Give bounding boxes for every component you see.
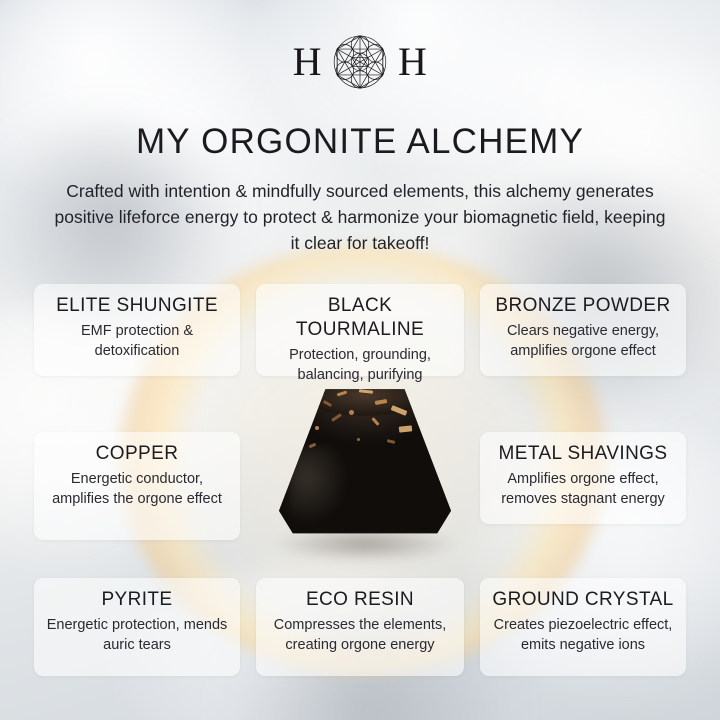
page-subtitle: Crafted with intention & mindfully sourc…	[52, 178, 668, 256]
copper-fleck	[357, 438, 360, 441]
ingredient-desc: Clears negative energy, amplifies orgone…	[488, 321, 678, 361]
ingredient-desc: Energetic conductor, amplifies the orgon…	[42, 469, 232, 509]
ingredient-card-ground-crystal: GROUND CRYSTAL Creates piezoelectric eff…	[480, 578, 686, 676]
logo-letter-right: H	[398, 42, 427, 82]
ingredient-name: ELITE SHUNGITE	[42, 294, 232, 318]
ingredient-card-metal-shavings: METAL SHAVINGS Amplifies orgone effect, …	[480, 432, 686, 524]
copper-fleck	[315, 426, 319, 430]
logo-letter-left: H	[293, 42, 322, 82]
ingredient-desc: Creates piezoelectric effect, emits nega…	[488, 615, 678, 655]
ingredient-name: BRONZE POWDER	[488, 294, 678, 318]
ingredient-desc: Compresses the elements, creating orgone…	[264, 615, 456, 655]
ingredient-name: GROUND CRYSTAL	[488, 588, 678, 612]
ingredient-card-tourmaline: BLACK TOURMALINE Protection, grounding, …	[256, 284, 464, 376]
ingredient-name: BLACK TOURMALINE	[264, 294, 456, 342]
metatron-cube-icon	[322, 24, 398, 100]
ingredient-desc: EMF protection & detoxification	[42, 321, 232, 361]
page-title: MY ORGONITE ALCHEMY	[0, 122, 720, 162]
ingredient-card-pyrite: PYRITE Energetic protection, mends auric…	[34, 578, 240, 676]
ingredient-name: ECO RESIN	[264, 588, 456, 612]
poster: H H	[0, 0, 720, 720]
ingredient-name: COPPER	[42, 442, 232, 466]
ingredient-desc: Amplifies orgone effect, removes stagnan…	[488, 469, 678, 509]
ingredient-card-eco-resin: ECO RESIN Compresses the elements, creat…	[256, 578, 464, 676]
ingredient-name: METAL SHAVINGS	[488, 442, 678, 466]
product-puck	[279, 386, 451, 546]
ingredient-desc: Energetic protection, mends auric tears	[42, 615, 232, 655]
puck-highlight	[289, 446, 349, 526]
orgonite-product-image	[279, 386, 451, 561]
brand-logo: H H	[0, 26, 720, 98]
copper-fleck	[349, 410, 354, 415]
ingredient-card-copper: COPPER Energetic conductor, amplifies th…	[34, 432, 240, 540]
ingredient-name: PYRITE	[42, 588, 232, 612]
ingredient-card-bronze: BRONZE POWDER Clears negative energy, am…	[480, 284, 686, 376]
ingredient-card-shungite: ELITE SHUNGITE EMF protection & detoxifi…	[34, 284, 240, 376]
ingredient-desc: Protection, grounding, balancing, purify…	[264, 345, 456, 385]
